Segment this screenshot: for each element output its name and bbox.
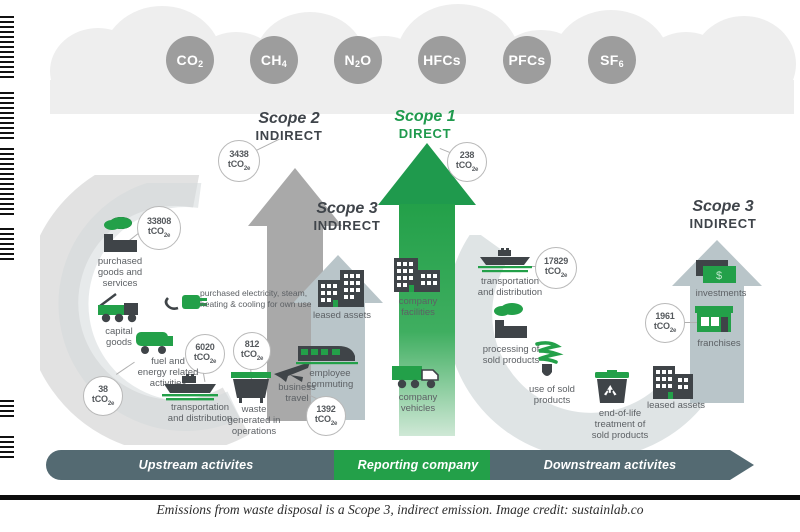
gas-label-hfcs: HFCs: [423, 52, 461, 68]
scope1-heading: Scope 1 DIRECT: [370, 108, 480, 142]
label-end-of-life-treatment-of-sold-products: end-of-life treatment of sold products: [578, 408, 662, 442]
gas-label-sf6: SF6: [600, 52, 624, 69]
bubble-unit: tCO2e: [654, 322, 676, 334]
scope3-upstream-heading: Scope 3 INDIRECT: [292, 200, 402, 234]
scan-artifact: [0, 228, 14, 262]
bar-segment-reporting[interactable]: Reporting company: [334, 450, 502, 480]
gas-circle-sf6: SF6: [588, 36, 636, 84]
scan-artifact: [0, 16, 14, 78]
scope1-title: Scope 1: [370, 108, 480, 126]
money-investments-icon: $: [694, 258, 740, 288]
bubble-unit: tCO2e: [92, 395, 114, 407]
fuel-tanker-icon: [132, 326, 178, 356]
label-company-facilities: company facilities: [382, 296, 454, 318]
bar-segment-upstream[interactable]: Upstream activites: [46, 450, 346, 480]
train-icon: [296, 342, 358, 368]
bubble-unit: tCO2e: [148, 227, 170, 239]
svg-text:$: $: [716, 270, 722, 282]
scope3-downstream-heading: Scope 3 INDIRECT: [668, 198, 778, 232]
cargo-ship-icon: [476, 248, 534, 274]
scope2-heading: Scope 2 INDIRECT: [224, 110, 354, 144]
bubble-unit: tCO2e: [241, 350, 263, 362]
bar-chevron-tip: [730, 450, 754, 480]
bubble-unit: tCO2e: [456, 161, 478, 173]
cargo-ship-icon: [160, 374, 220, 402]
scope3-right-kind: INDIRECT: [668, 216, 778, 232]
bubble-unit: tCO2e: [315, 415, 337, 427]
gas-label-ch4: CH4: [261, 52, 287, 69]
bubble-unit: tCO2e: [228, 160, 250, 172]
scan-artifact: [0, 436, 14, 458]
scan-artifact: [0, 92, 14, 140]
label-employee-commuting: employee commuting: [294, 368, 366, 390]
scan-artifact: [0, 148, 14, 218]
light-bulb-icon: [530, 340, 564, 382]
gas-circle-n2o: N2O: [334, 36, 382, 84]
factory-icon: [96, 216, 142, 254]
bubble-scope2: 3438 tCO2e: [218, 140, 260, 182]
scope3-left-kind: INDIRECT: [292, 218, 402, 234]
bubble-scope1: 238 tCO2e: [447, 142, 487, 182]
scope2-title: Scope 2: [224, 110, 354, 128]
activity-flow-bar: Upstream activites Reporting company Dow…: [46, 450, 754, 480]
label-use-of-sold-products: use of sold products: [516, 384, 588, 406]
company-facilities-icon: [392, 252, 442, 294]
ghg-scopes-diagram: CO2 CH4 N2O HFCs PFCs SF6 Scop: [0, 0, 800, 532]
bar-segment-downstream[interactable]: Downstream activites: [490, 450, 730, 480]
scope2-note: purchased electricity, steam, heating & …: [200, 288, 360, 309]
label-company-vehicles: company vehicles: [382, 392, 454, 414]
gas-circle-co2: CO2: [166, 36, 214, 84]
gas-label-pfcs: PFCs: [509, 52, 546, 68]
recycle-bin-icon: [592, 370, 632, 408]
label-leased-assets-downstream: leased assets: [640, 400, 712, 411]
bubble-purchased-goods: 33808 tCO2e: [137, 206, 181, 250]
gas-label-n2o: N2O: [345, 52, 372, 69]
company-vehicles-icon: [390, 362, 444, 392]
bar-label-reporting: Reporting company: [358, 458, 479, 472]
bubble-fuel-energy: 38 tCO2e: [83, 376, 123, 416]
label-purchased-goods-and-services: purchased goods and services: [72, 256, 168, 290]
label-leased-assets-upstream: leased assets: [306, 310, 378, 321]
crane-truck-icon: [94, 292, 144, 324]
label-transportation-and-distribution-downstream: transportation and distribution: [464, 276, 556, 298]
scan-artifact: [0, 400, 14, 418]
scope1-kind: DIRECT: [370, 126, 480, 142]
gas-circle-hfcs: HFCs: [418, 36, 466, 84]
figure-caption: Emissions from waste disposal is a Scope…: [0, 502, 800, 518]
label-investments: investments: [686, 288, 756, 299]
bar-label-downstream: Downstream activites: [544, 458, 677, 472]
label-waste-generated-in-operations: waste generated in operations: [212, 404, 296, 438]
leased-building-icon: [650, 362, 696, 400]
gas-circle-pfcs: PFCs: [503, 36, 551, 84]
scope3-right-title: Scope 3: [668, 198, 778, 216]
bubble-franchises: 1961 tCO2e: [645, 303, 685, 343]
bar-label-upstream: Upstream activites: [139, 458, 254, 472]
gas-circle-ch4: CH4: [250, 36, 298, 84]
gas-label-co2: CO2: [177, 52, 204, 69]
horizontal-rule: [0, 495, 800, 500]
storefront-icon: [692, 304, 736, 336]
label-franchises: franchises: [686, 338, 752, 349]
processing-factory-icon: [486, 302, 532, 340]
scope3-left-title: Scope 3: [292, 200, 402, 218]
bubble-waste: 812 tCO2e: [233, 332, 271, 370]
